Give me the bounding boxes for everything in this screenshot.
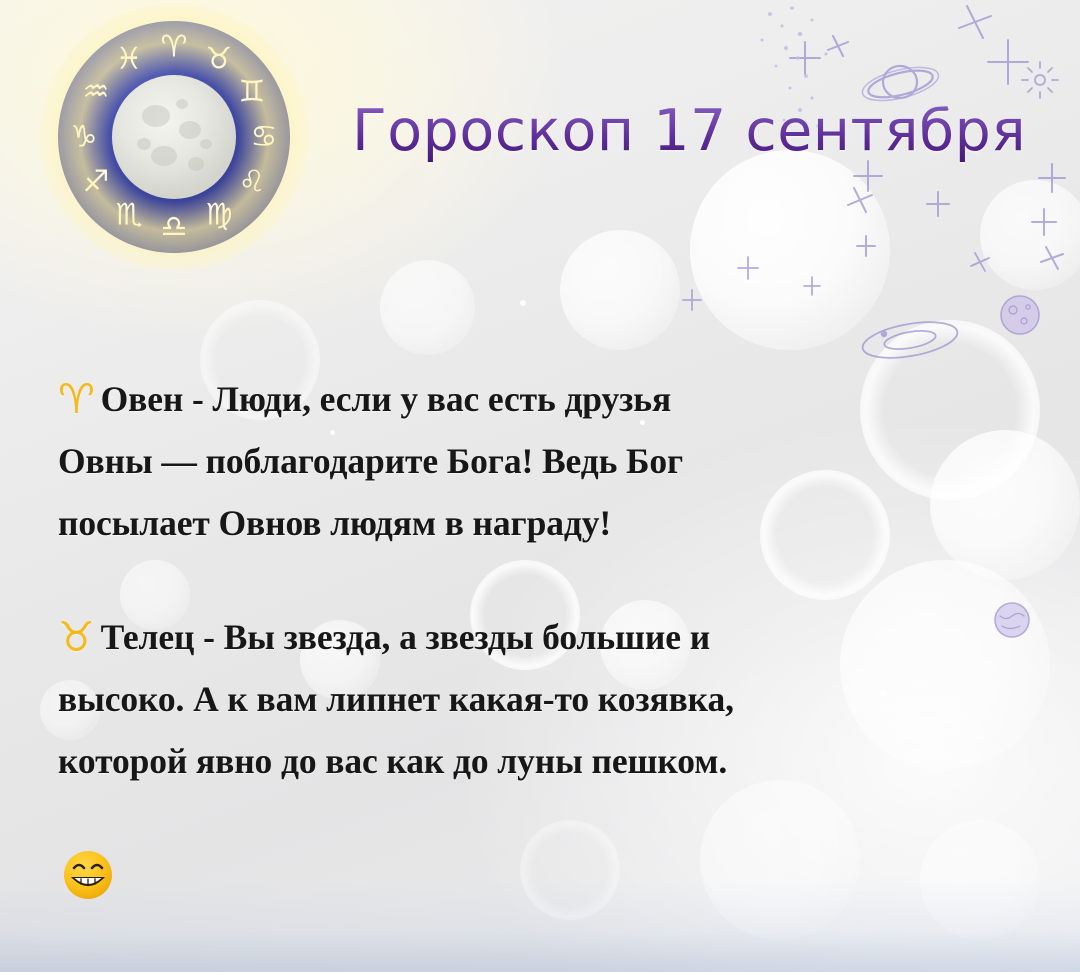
zodiac-wheel: ♈ ♉ ♊ ♋ ♌ ♍ ♎ ♏ ♐ ♑ ♒ ♓ xyxy=(40,4,308,270)
entry-line: Овны — поблагодарите Бога! Ведь Бог xyxy=(58,430,1048,492)
grinning-face-emoji xyxy=(62,849,114,901)
entry-line-text: Овен - Люди, если у вас есть друзья xyxy=(101,379,671,419)
horoscope-poster: ♈ ♉ ♊ ♋ ♌ ♍ ♎ ♏ ♐ ♑ ♒ ♓ Гороскоп 17 сент… xyxy=(0,0,1080,972)
entry-line-text: высоко. А к вам липнет какая-то козявка, xyxy=(58,679,734,719)
entry-line-text: Телец - Вы звезда, а звезды большие и xyxy=(101,617,710,657)
horoscope-entries: ♈Овен - Люди, если у вас есть друзья Овн… xyxy=(58,368,1048,832)
page-title: Гороскоп 17 сентября xyxy=(352,92,1052,172)
entry-line: высоко. А к вам липнет какая-то козявка, xyxy=(58,668,1048,730)
bottom-haze xyxy=(0,882,1080,972)
entry-line: которой явно до вас как до луны пешком. xyxy=(58,730,1048,792)
entry-line: ♈Овен - Люди, если у вас есть друзья xyxy=(58,368,1048,430)
entry-line-text: посылает Овнов людям в награду! xyxy=(58,503,611,543)
entry-line-text: Овны — поблагодарите Бога! Ведь Бог xyxy=(58,441,683,481)
horoscope-entry-aries: ♈Овен - Люди, если у вас есть друзья Овн… xyxy=(58,368,1048,554)
moon-planet-doodle xyxy=(1001,296,1039,334)
orbit-doodle xyxy=(860,316,960,364)
entry-line: ♉Телец - Вы звезда, а звезды большие и xyxy=(58,606,1048,668)
star-doodle-small xyxy=(683,253,989,310)
wheel-glow xyxy=(40,4,308,270)
horoscope-entry-taurus: ♉Телец - Вы звезда, а звезды большие и в… xyxy=(58,606,1048,792)
entry-line: посылает Овнов людям в награду! xyxy=(58,492,1048,554)
entry-line-text: которой явно до вас как до луны пешком. xyxy=(58,741,727,781)
